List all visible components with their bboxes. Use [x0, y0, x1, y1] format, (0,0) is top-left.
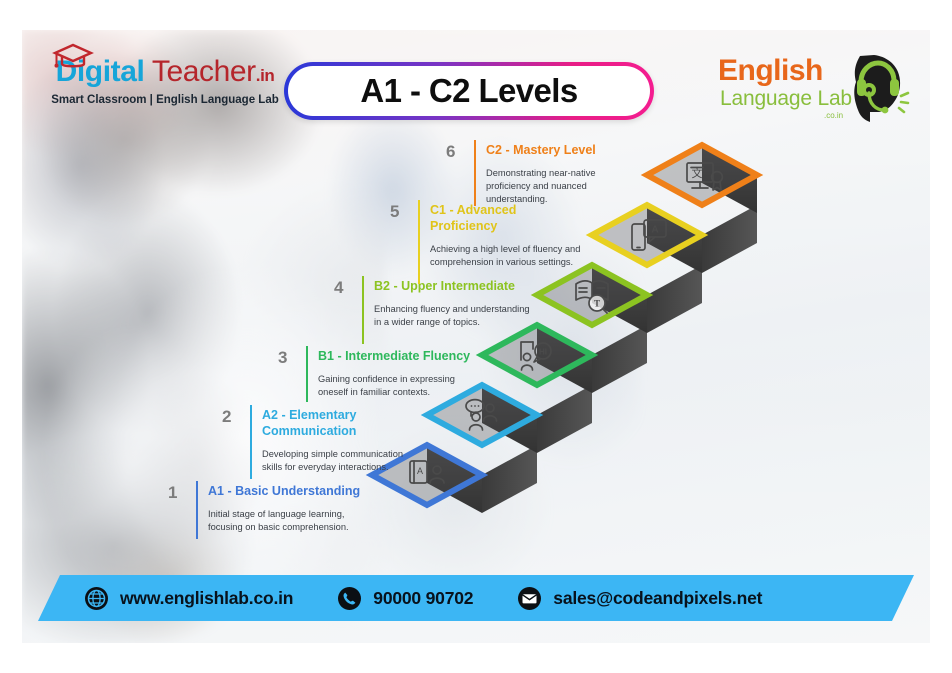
stair-step-3 — [482, 325, 647, 393]
step-number-1: 1 — [168, 483, 177, 503]
svg-text:T: T — [594, 299, 600, 309]
step-description-1: Initial stage of language learning, focu… — [208, 508, 368, 534]
step-description-2: Developing simple communication skills f… — [262, 448, 418, 474]
step-number-4: 4 — [334, 278, 343, 298]
digital-teacher-tagline: Smart Classroom | English Language Lab — [40, 94, 290, 106]
step-number-2: 2 — [222, 407, 231, 427]
step-number-3: 3 — [278, 348, 287, 368]
footer-email[interactable]: sales@codeandpixels.net — [517, 586, 762, 611]
email-icon — [517, 586, 542, 611]
step-accent-bar-4 — [362, 276, 364, 344]
footer-email-text: sales@codeandpixels.net — [553, 588, 762, 609]
step-description-6: Demonstrating near-native proficiency an… — [486, 167, 642, 207]
digital-teacher-logo: Digital Teacher.in Smart Classroom | Eng… — [40, 55, 290, 106]
footer-website[interactable]: www.englishlab.co.in — [84, 586, 293, 611]
step-number-6: 6 — [446, 142, 455, 162]
headset-head-icon — [844, 52, 910, 129]
step-text-2: 2 A2 - Elementary Communication Developi… — [222, 407, 418, 474]
step-heading-6: C2 - Mastery Level — [486, 142, 642, 158]
svg-text:A: A — [651, 225, 658, 236]
logo-word-teacher: Teacher — [144, 55, 255, 88]
step-heading-3: B1 - Intermediate Fluency — [318, 348, 478, 364]
footer-phone-text: 90000 90702 — [373, 588, 473, 609]
stair-step-5 — [592, 205, 757, 273]
logo-tld: .in — [256, 66, 275, 85]
step-text-6: 6 C2 - Mastery Level Demonstrating near-… — [446, 142, 642, 207]
ell-tld: .co.in — [824, 111, 843, 120]
step-text-1: 1 A1 - Basic Understanding Initial stage… — [168, 483, 368, 534]
step-accent-bar-6 — [474, 140, 476, 206]
stair-step-4 — [537, 265, 702, 333]
step-heading-1: A1 - Basic Understanding — [208, 483, 368, 499]
infographic-poster: Digital Teacher.in Smart Classroom | Eng… — [22, 30, 930, 643]
footer: www.englishlab.co.in 90000 90702 — [22, 575, 930, 621]
footer-contact-band: www.englishlab.co.in 90000 90702 — [38, 575, 914, 621]
step-accent-bar-2 — [250, 405, 252, 479]
footer-phone[interactable]: 90000 90702 — [337, 586, 473, 611]
phone-icon — [337, 586, 362, 611]
ell-word-english: English — [718, 54, 823, 88]
step-text-3: 3 B1 - Intermediate Fluency Gaining conf… — [278, 348, 478, 399]
graduation-cap-icon — [52, 42, 94, 77]
step-description-5: Achieving a high level of fluency and co… — [430, 243, 586, 269]
step-accent-bar-1 — [196, 481, 198, 539]
step-heading-5: C1 - Advanced Proficiency — [430, 202, 586, 234]
step-heading-4: B2 - Upper Intermediate — [374, 278, 534, 294]
english-language-lab-logo: English Language Lab .co.in — [716, 54, 916, 132]
step-accent-bar-5 — [418, 200, 420, 284]
step-description-4: Enhancing fluency and understanding in a… — [374, 303, 534, 329]
ell-word-language-lab: Language Lab — [720, 87, 852, 111]
step-text-5: 5 C1 - Advanced Proficiency Achieving a … — [390, 202, 586, 269]
step-number-5: 5 — [390, 202, 399, 222]
step-text-4: 4 B2 - Upper Intermediate Enhancing flue… — [334, 278, 534, 329]
title-pill: A1 - C2 Levels — [284, 62, 654, 120]
globe-icon — [84, 586, 109, 611]
svg-text:HI: HI — [539, 348, 547, 357]
footer-website-text: www.englishlab.co.in — [120, 588, 293, 609]
step-description-3: Gaining confidence in expressing oneself… — [318, 373, 478, 399]
step-heading-2: A2 - Elementary Communication — [262, 407, 418, 439]
page-title: A1 - C2 Levels — [360, 72, 577, 110]
step-accent-bar-3 — [306, 346, 308, 402]
